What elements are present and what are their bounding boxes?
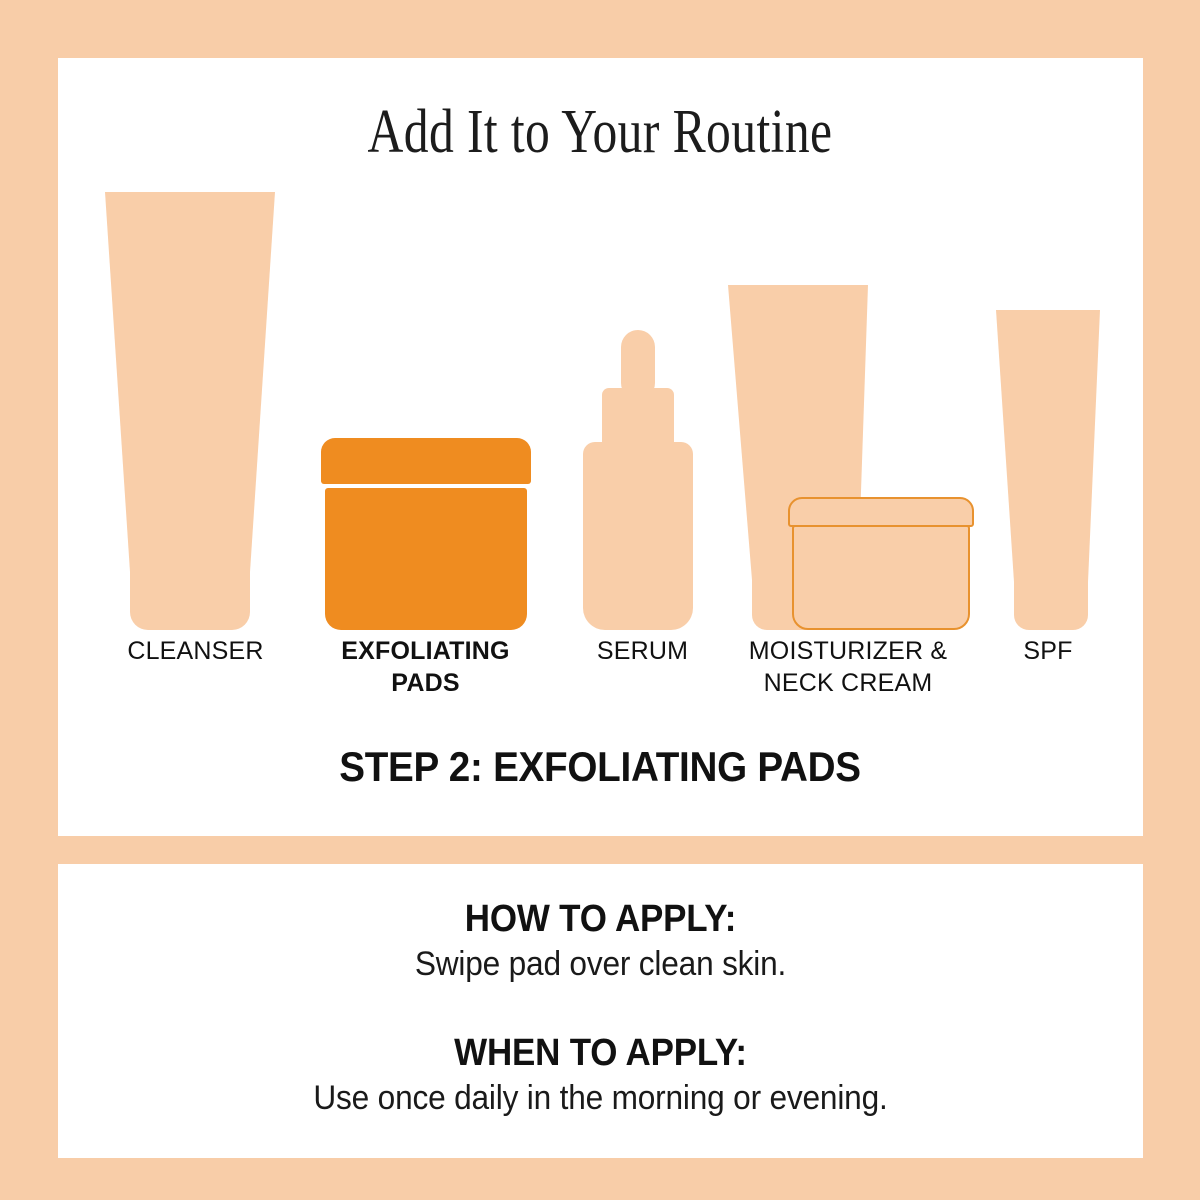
- tube-and-jar-icon: [710, 285, 940, 630]
- product-serum[interactable]: [583, 330, 693, 630]
- how-to-apply-heading: HOW TO APPLY:: [101, 896, 1099, 942]
- jar-base: [325, 488, 527, 630]
- routine-infographic: Add It to Your Routine: [0, 0, 1200, 1200]
- step-heading: STEP 2: EXFOLIATING PADS: [48, 742, 1152, 792]
- cleanser-tube-shape: [100, 192, 280, 630]
- tube-icon: [988, 310, 1108, 630]
- bottle-body: [583, 442, 693, 630]
- when-to-apply-text: Use once daily in the morning or evening…: [96, 1076, 1105, 1120]
- label-exfoliating-pads: EXFOLIATING PADS: [313, 635, 538, 699]
- spf-tube-shape: [988, 310, 1108, 630]
- product-spf[interactable]: [988, 310, 1108, 630]
- when-to-apply-block: WHEN TO APPLY: Use once daily in the mor…: [58, 1030, 1143, 1120]
- neck-cream-jar-lid: [788, 497, 974, 527]
- how-to-apply-text: Swipe pad over clean skin.: [96, 942, 1105, 986]
- jar-icon: [321, 438, 531, 630]
- dropper-collar: [602, 388, 674, 450]
- label-moisturizer-neck-cream: MOISTURIZER & NECK CREAM: [723, 635, 973, 699]
- label-spf: SPF: [963, 635, 1133, 667]
- product-moisturizer-neck-cream[interactable]: [710, 285, 940, 630]
- product-labels: CLEANSER EXFOLIATING PADS SERUM MOISTURI…: [58, 635, 1143, 725]
- how-to-apply-block: HOW TO APPLY: Swipe pad over clean skin.: [58, 896, 1143, 986]
- product-exfoliating-pads[interactable]: [321, 438, 531, 630]
- jar-lid: [321, 438, 531, 484]
- dropper-bottle-icon: [583, 330, 693, 630]
- label-serum: SERUM: [540, 635, 745, 667]
- when-to-apply-heading: WHEN TO APPLY:: [101, 1030, 1099, 1076]
- neck-cream-jar-icon: [788, 497, 974, 630]
- label-cleanser: CLEANSER: [58, 635, 333, 667]
- product-cleanser[interactable]: [100, 192, 280, 630]
- product-row: [58, 170, 1143, 630]
- page-title: Add It to Your Routine: [120, 96, 1080, 168]
- neck-cream-jar-base: [792, 525, 970, 630]
- tube-icon: [100, 192, 280, 630]
